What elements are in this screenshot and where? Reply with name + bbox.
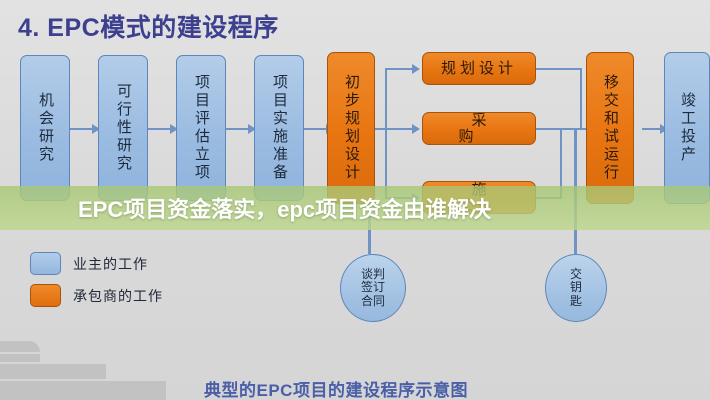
decor-stair-1 [0, 341, 40, 352]
process-box-label: 项目实施准备 [271, 74, 287, 182]
process-box-label: 可行性研究 [115, 83, 131, 173]
connector-b4-b5 [304, 128, 328, 130]
connector-b3-b4 [226, 128, 250, 130]
decor-stair-3 [0, 364, 106, 379]
process-box-label: 机会研究 [37, 92, 53, 164]
process-box-implementation-prep[interactable]: 项目实施准备 [254, 55, 304, 201]
ellipse-label: 谈判 签订 合同 [361, 268, 385, 308]
connector-merge-riser-1 [580, 68, 582, 130]
diagram-caption: 典型的EPC项目的建设程序示意图 [204, 376, 468, 400]
process-box-feasibility-study[interactable]: 可行性研究 [98, 55, 148, 201]
decor-stair-4 [0, 381, 166, 400]
legend-item-owner: 业主的工作 [30, 252, 163, 275]
decor-stair-2 [0, 354, 40, 362]
legend-item-contractor: 承包商的工作 [30, 284, 163, 307]
connector-b1-b2 [70, 128, 94, 130]
ellipse-contract-negotiation[interactable]: 谈判 签订 合同 [340, 254, 406, 322]
connector-b2-b3 [148, 128, 172, 130]
branch-box-procurement[interactable]: 采 购 [422, 112, 536, 145]
overlay-banner: EPC项目资金落实，epc项目资金由谁解决 [0, 186, 710, 230]
branch-box-label: 采 购 [423, 113, 535, 145]
process-box-label: 初步规划设计 [343, 74, 359, 182]
legend-label: 承包商的工作 [73, 286, 163, 306]
overlay-banner-text: EPC项目资金落实，epc项目资金由谁解决 [78, 192, 491, 224]
legend-swatch-orange-icon [30, 284, 61, 307]
legend-label: 业主的工作 [73, 254, 148, 274]
connector-guihua-merge [536, 68, 582, 70]
process-box-completion-production[interactable]: 竣工投产 [664, 52, 710, 204]
branch-box-label: 规划设计 [441, 61, 517, 77]
process-box-label: 移交和试运行 [602, 74, 618, 182]
process-box-label: 竣工投产 [679, 92, 695, 164]
connector-split-riser [385, 68, 387, 198]
ellipse-turnkey[interactable]: 交 钥 匙 [545, 254, 607, 322]
branch-box-planning-design[interactable]: 规划设计 [422, 52, 536, 85]
process-box-label: 项目评估立项 [193, 74, 209, 182]
page-title: 4. EPC模式的建设程序 [18, 8, 279, 44]
legend-swatch-blue-icon [30, 252, 61, 275]
process-box-opportunity-study[interactable]: 机会研究 [20, 55, 70, 201]
process-box-handover-trial[interactable]: 移交和试运行 [586, 52, 634, 204]
diagram-canvas: 4. EPC模式的建设程序 机会研究 可行性研究 项目评估立项 项目实施准备 初… [0, 0, 710, 400]
arrowhead-caigou [412, 124, 420, 134]
legend: 业主的工作 承包商的工作 [30, 252, 163, 316]
arrowhead-guihua [412, 64, 420, 74]
process-box-project-appraisal[interactable]: 项目评估立项 [176, 55, 226, 201]
ellipse-label: 交 钥 匙 [570, 268, 582, 308]
process-box-preliminary-planning[interactable]: 初步规划设计 [327, 52, 375, 204]
